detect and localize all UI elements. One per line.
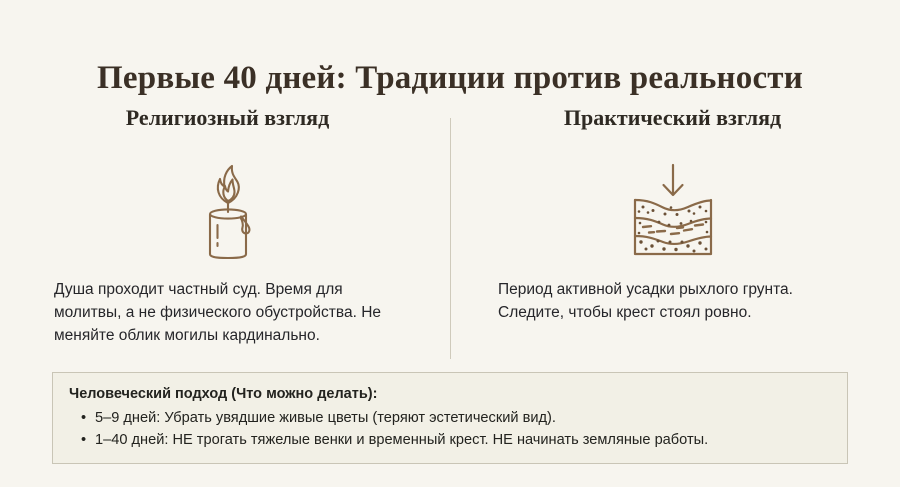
callout-title: Человеческий подход (Что можно делать):	[69, 384, 831, 404]
infographic-page: Первые 40 дней: Традиции против реальнос…	[0, 0, 900, 487]
list-item: • 1–40 дней: НЕ трогать тяжелые венки и …	[69, 429, 831, 451]
column-body-practical: Период активной усадки рыхлого грунта. С…	[490, 278, 855, 324]
page-title: Первые 40 дней: Традиции против реальнос…	[0, 58, 900, 98]
callout-box: Человеческий подход (Что можно делать): …	[52, 372, 848, 464]
bullet-glyph: •	[81, 429, 86, 451]
column-divider	[450, 118, 451, 359]
list-item: • 5–9 дней: Убрать увядшие живые цветы (…	[69, 407, 831, 429]
column-body-religious: Душа проходит частный суд. Время для мол…	[50, 278, 405, 347]
bullet-glyph: •	[81, 407, 86, 429]
column-religious: Религиозный взгляд	[0, 104, 450, 354]
comparison-columns: Религиозный взгляд	[0, 104, 900, 354]
column-heading-religious: Религиозный взгляд	[50, 104, 405, 132]
candle-icon	[50, 160, 405, 264]
list-item-text: 1–40 дней: НЕ трогать тяжелые венки и вр…	[95, 432, 708, 448]
column-practical: Практический взгляд	[450, 104, 900, 354]
column-heading-practical: Практический взгляд	[490, 104, 855, 132]
callout-list: • 5–9 дней: Убрать увядшие живые цветы (…	[69, 407, 831, 451]
list-item-text: 5–9 дней: Убрать увядшие живые цветы (те…	[95, 410, 556, 426]
soil-settling-icon	[490, 160, 855, 264]
